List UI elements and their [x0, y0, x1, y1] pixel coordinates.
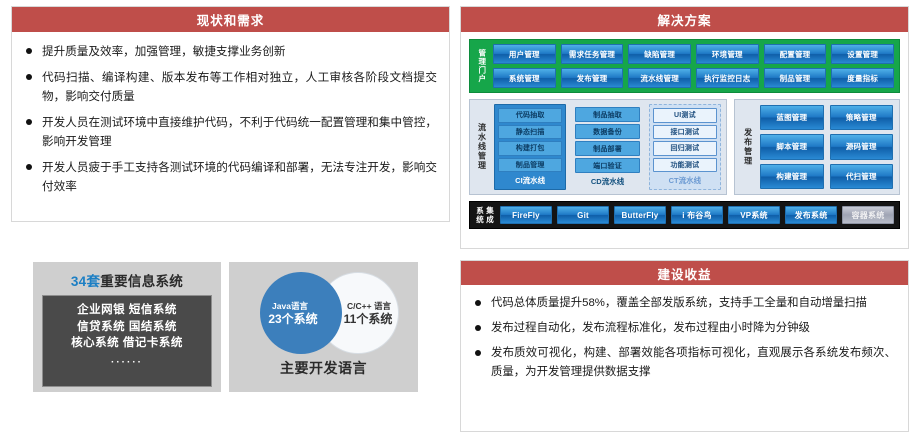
release-button-blueprint-management[interactable]: 蓝图管理 — [760, 105, 823, 130]
release-button-build-management[interactable]: 构建管理 — [760, 164, 823, 189]
bullet-dot-icon — [475, 350, 481, 356]
portal-button-release-management[interactable]: 发布管理 — [561, 68, 624, 88]
pipeline-item[interactable]: 制品抽取 — [575, 107, 639, 122]
integration-item-git[interactable]: Git — [557, 206, 609, 224]
portal-button-execution-monitor-log[interactable]: 执行监控日志 — [696, 68, 759, 88]
pipeline-column-cd: 制品抽取 数据备份 制品部署 端口验证 CD流水线 — [572, 104, 642, 190]
list-item: 开发人员疲于手工支持各测试环境的代码编译和部署，无法专注开发，影响交付效率 — [24, 158, 437, 196]
management-portal-grid: 用户管理 需求任务管理 缺陷管理 环境管理 配置管理 设置管理 系统管理 发布管… — [493, 44, 894, 88]
portal-button-configuration-management[interactable]: 配置管理 — [764, 44, 827, 64]
bullet-text: 开发人员疲于手工支持各测试环境的代码编译和部署，无法专注开发，影响交付效率 — [42, 161, 437, 193]
integration-item-cuckoo[interactable]: i 布谷鸟 — [671, 206, 723, 224]
pipeline-side-label: 流水线管理 — [475, 104, 489, 190]
systems-line: 信贷系统 国结系统 — [47, 319, 207, 336]
pipeline-column-label-ct: CT流水线 — [653, 174, 717, 186]
bullet-text: 代码扫描、编译构建、版本发布等工作相对独立，人工审核各阶段文档提交物，影响交付质… — [42, 71, 437, 103]
slide-root: 现状和需求 提升质量及效率，加强管理，敏捷支撑业务创新 代码扫描、编译构建、版本… — [0, 0, 919, 436]
pipeline-item[interactable]: 制品部署 — [575, 141, 639, 156]
pipeline-item[interactable]: UI测试 — [653, 108, 717, 123]
solution-panel: 解决方案 管理门户 用户管理 需求任务管理 缺陷管理 环境管理 配置管理 设置管… — [460, 6, 909, 249]
bullet-dot-icon — [475, 325, 481, 331]
management-portal-side-label: 管理门户 — [475, 44, 488, 88]
bullet-dot-icon — [26, 164, 32, 170]
language-venn-diagram: Java语言 23个系统 C/C++ 语言 11个系统 — [235, 268, 412, 356]
benefit-panel-body: 代码总体质量提升58%，覆盖全部发版系统，支持手工全量和自动增量扫描 发布过程自… — [461, 285, 908, 392]
benefit-panel-title: 建设收益 — [461, 261, 908, 285]
integration-item-firefly[interactable]: FireFly — [500, 206, 552, 224]
release-button-source-code-management[interactable]: 源码管理 — [830, 134, 893, 159]
system-integration-side-label: 系统 集成 — [475, 206, 495, 224]
venn-java-label: Java语言 — [272, 300, 330, 312]
list-item: 代码扫描、编译构建、版本发布等工作相对独立，人工审核各阶段文档提交物，影响交付质… — [24, 68, 437, 106]
pipeline-item[interactable]: 接口测试 — [653, 125, 717, 140]
important-systems-card: 34套重要信息系统 企业网银 短信系统 信贷系统 国结系统 核心系统 借记卡系统… — [33, 262, 221, 392]
solution-panel-title: 解决方案 — [461, 7, 908, 32]
pipeline-item[interactable]: 端口验证 — [575, 158, 639, 173]
portal-button-requirement-task-management[interactable]: 需求任务管理 — [561, 44, 624, 64]
portal-button-pipeline-management[interactable]: 流水线管理 — [628, 68, 691, 88]
portal-button-defect-management[interactable]: 缺陷管理 — [628, 44, 691, 64]
release-button-script-management[interactable]: 脚本管理 — [760, 134, 823, 159]
release-side-label: 发布管理 — [741, 105, 755, 189]
pipeline-item[interactable]: 静态扫描 — [498, 125, 562, 140]
pipeline-item[interactable]: 制品管理 — [498, 158, 562, 173]
list-item: 代码总体质量提升58%，覆盖全部发版系统，支持手工全量和自动增量扫描 — [473, 294, 896, 313]
pipeline-item[interactable]: 构建打包 — [498, 141, 562, 156]
portal-button-system-management[interactable]: 系统管理 — [493, 68, 556, 88]
portal-button-settings-management[interactable]: 设置管理 — [831, 44, 894, 64]
portal-button-environment-management[interactable]: 环境管理 — [696, 44, 759, 64]
portal-button-metrics[interactable]: 度量指标 — [831, 68, 894, 88]
status-bullet-list: 提升质量及效率，加强管理，敏捷支撑业务创新 代码扫描、编译构建、版本发布等工作相… — [24, 42, 437, 196]
systems-title-rest: 重要信息系统 — [100, 274, 183, 289]
bullet-text: 发布过程自动化，发布流程标准化，发布过程由小时降为分钟级 — [491, 322, 810, 334]
integration-item-vp-system[interactable]: VP系统 — [728, 206, 780, 224]
bullet-dot-icon — [26, 119, 32, 125]
bullet-dot-icon — [475, 300, 481, 306]
solution-panel-body: 管理门户 用户管理 需求任务管理 缺陷管理 环境管理 配置管理 设置管理 系统管… — [461, 32, 908, 235]
development-language-card: Java语言 23个系统 C/C++ 语言 11个系统 主要开发语言 — [229, 262, 418, 392]
pipeline-column-label-ci: CI流水线 — [498, 174, 562, 186]
status-panel-body: 提升质量及效率，加强管理，敏捷支撑业务创新 代码扫描、编译构建、版本发布等工作相… — [12, 32, 449, 207]
list-item: 发布过程自动化，发布流程标准化，发布过程由小时降为分钟级 — [473, 319, 896, 338]
venn-circle-java: Java语言 23个系统 — [260, 272, 342, 354]
bullet-text: 提升质量及效率，加强管理，敏捷支撑业务创新 — [42, 45, 285, 58]
pipeline-item[interactable]: 功能测试 — [653, 158, 717, 173]
pipeline-column-ct: UI测试 接口测试 回归测试 功能测试 CT流水线 — [649, 104, 721, 190]
systems-line: 核心系统 借记卡系统 — [47, 335, 207, 352]
pipeline-column-label-cd: CD流水线 — [575, 175, 639, 187]
integration-item-release-system[interactable]: 发布系统 — [785, 206, 837, 224]
systems-name-box: 企业网银 短信系统 信贷系统 国结系统 核心系统 借记卡系统 ······ — [42, 295, 212, 387]
system-integration-block: 系统 集成 FireFly Git ButterFly i 布谷鸟 VP系统 发… — [469, 201, 900, 229]
systems-count-highlight: 34套 — [71, 274, 100, 289]
pipeline-columns: 代码抽取 静态扫描 构建打包 制品管理 CI流水线 制品抽取 数据备份 制品部署… — [494, 104, 721, 190]
systems-card-title: 34套重要信息系统 — [42, 270, 212, 290]
pipeline-item[interactable]: 数据备份 — [575, 124, 639, 139]
management-portal-block: 管理门户 用户管理 需求任务管理 缺陷管理 环境管理 配置管理 设置管理 系统管… — [469, 39, 900, 93]
pipeline-management-block: 流水线管理 代码抽取 静态扫描 构建打包 制品管理 CI流水线 制品抽取 数据 — [469, 99, 727, 195]
status-panel-title: 现状和需求 — [12, 7, 449, 32]
pipeline-and-release-row: 流水线管理 代码抽取 静态扫描 构建打包 制品管理 CI流水线 制品抽取 数据 — [469, 99, 900, 195]
integration-item-container-system[interactable]: 容器系统 — [842, 206, 894, 224]
systems-line: 企业网银 短信系统 — [47, 302, 207, 319]
list-item: 提升质量及效率，加强管理，敏捷支撑业务创新 — [24, 42, 437, 61]
pipeline-column-ci: 代码抽取 静态扫描 构建打包 制品管理 CI流水线 — [494, 104, 566, 190]
benefit-bullet-list: 代码总体质量提升58%，覆盖全部发版系统，支持手工全量和自动增量扫描 发布过程自… — [473, 294, 896, 382]
systems-line-ellipsis: ······ — [47, 352, 207, 372]
release-button-code-scan-management[interactable]: 代扫管理 — [830, 164, 893, 189]
portal-button-user-management[interactable]: 用户管理 — [493, 44, 556, 64]
bullet-text: 代码总体质量提升58%，覆盖全部发版系统，支持手工全量和自动增量扫描 — [491, 297, 867, 309]
pipeline-item[interactable]: 回归测试 — [653, 141, 717, 156]
bullet-text: 开发人员在测试环境中直接维护代码，不利于代码统一配置管理和集中管控，影响开发管理 — [42, 116, 437, 148]
language-card-caption: 主要开发语言 — [235, 358, 412, 378]
status-and-requirements-panel: 现状和需求 提升质量及效率，加强管理，敏捷支撑业务创新 代码扫描、编译构建、版本… — [11, 6, 450, 222]
list-item: 开发人员在测试环境中直接维护代码，不利于代码统一配置管理和集中管控，影响开发管理 — [24, 113, 437, 151]
construction-benefit-panel: 建设收益 代码总体质量提升58%，覆盖全部发版系统，支持手工全量和自动增量扫描 … — [460, 260, 909, 432]
stats-strip: 34套重要信息系统 企业网银 短信系统 信贷系统 国结系统 核心系统 借记卡系统… — [33, 262, 418, 392]
integration-item-butterfly[interactable]: ButterFly — [614, 206, 666, 224]
system-integration-items: FireFly Git ButterFly i 布谷鸟 VP系统 发布系统 容器… — [500, 206, 894, 224]
release-button-grid: 蓝图管理 策略管理 脚本管理 源码管理 构建管理 代扫管理 — [760, 105, 893, 189]
portal-button-artifact-management[interactable]: 制品管理 — [764, 68, 827, 88]
venn-java-count: 23个系统 — [268, 312, 333, 327]
list-item: 发布质效可视化，构建、部署效能各项指标可视化，直观展示各系统发布频次、质量，为开… — [473, 344, 896, 382]
pipeline-item[interactable]: 代码抽取 — [498, 108, 562, 123]
bullet-text: 发布质效可视化，构建、部署效能各项指标可视化，直观展示各系统发布频次、质量，为开… — [491, 347, 896, 378]
release-button-strategy-management[interactable]: 策略管理 — [830, 105, 893, 130]
release-management-block: 发布管理 蓝图管理 策略管理 脚本管理 源码管理 构建管理 代扫管理 — [734, 99, 900, 195]
bullet-dot-icon — [26, 74, 32, 80]
bullet-dot-icon — [26, 48, 32, 54]
